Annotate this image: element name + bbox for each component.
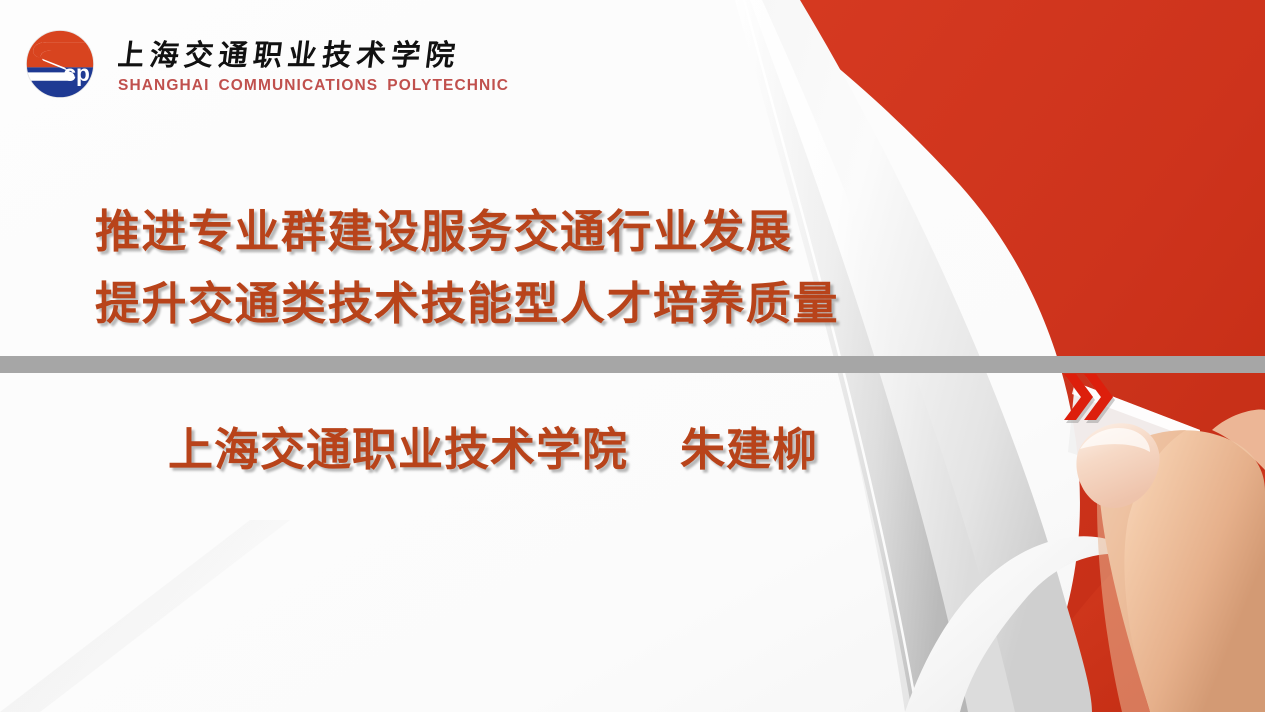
scp-circle-logo-icon: cp — [18, 22, 102, 106]
svg-text:cp: cp — [63, 60, 89, 86]
presenter-row: 上海交通职业技术学院朱建柳 — [168, 418, 818, 482]
institution-logo-text: 上海交通职业技术学院 SHANGHAICOMMUNICATIONSPOLYTEC… — [118, 34, 509, 95]
title-line-2: 提升交通类技术技能型人才培养质量 — [95, 268, 839, 340]
presenter-affiliation: 上海交通职业技术学院 — [168, 423, 628, 476]
title-slide: cp 上海交通职业技术学院 SHANGHAICOMMUNICATIONSPOLY… — [0, 0, 1265, 712]
presenter-line: 上海交通职业技术学院朱建柳 — [168, 418, 818, 482]
institution-en-word-2: COMMUNICATIONS — [218, 77, 378, 94]
title-line-1: 推进专业群建设服务交通行业发展 — [95, 196, 839, 268]
institution-logo-block: cp 上海交通职业技术学院 SHANGHAICOMMUNICATIONSPOLY… — [18, 22, 509, 106]
page-title: 推进专业群建设服务交通行业发展 提升交通类技术技能型人才培养质量 — [95, 196, 839, 340]
institution-en-word-1: SHANGHAI — [118, 77, 209, 94]
institution-en-word-3: POLYTECHNIC — [387, 77, 509, 94]
chevron-stroke-1 — [1064, 374, 1093, 420]
presenter-name: 朱建柳 — [680, 423, 818, 476]
institution-name-cn-text: 上海交通职业技术学院 — [118, 38, 462, 72]
institution-name-en: SHANGHAICOMMUNICATIONSPOLYTECHNIC — [118, 77, 509, 95]
double-chevron-right-icon[interactable] — [1062, 370, 1124, 432]
institution-name-cn-calligraphy: 上海交通职业技术学院 — [118, 34, 470, 74]
